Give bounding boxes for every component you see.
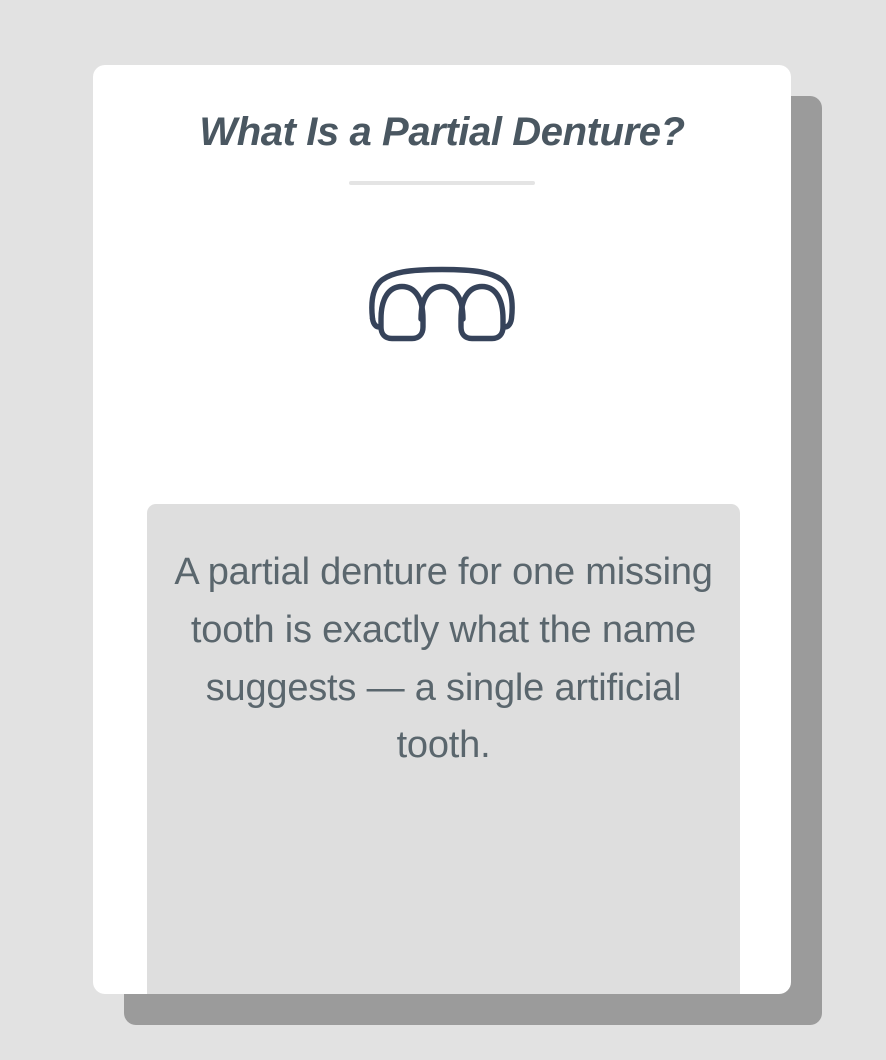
description-text: A partial denture for one missing tooth … xyxy=(173,544,714,775)
page-title: What Is a Partial Denture? xyxy=(93,65,791,155)
partial-denture-icon xyxy=(364,261,520,347)
icon-container xyxy=(93,261,791,347)
description-panel: A partial denture for one missing tooth … xyxy=(147,504,740,994)
info-card: What Is a Partial Denture? A partial den… xyxy=(93,65,791,994)
title-divider xyxy=(349,181,535,185)
